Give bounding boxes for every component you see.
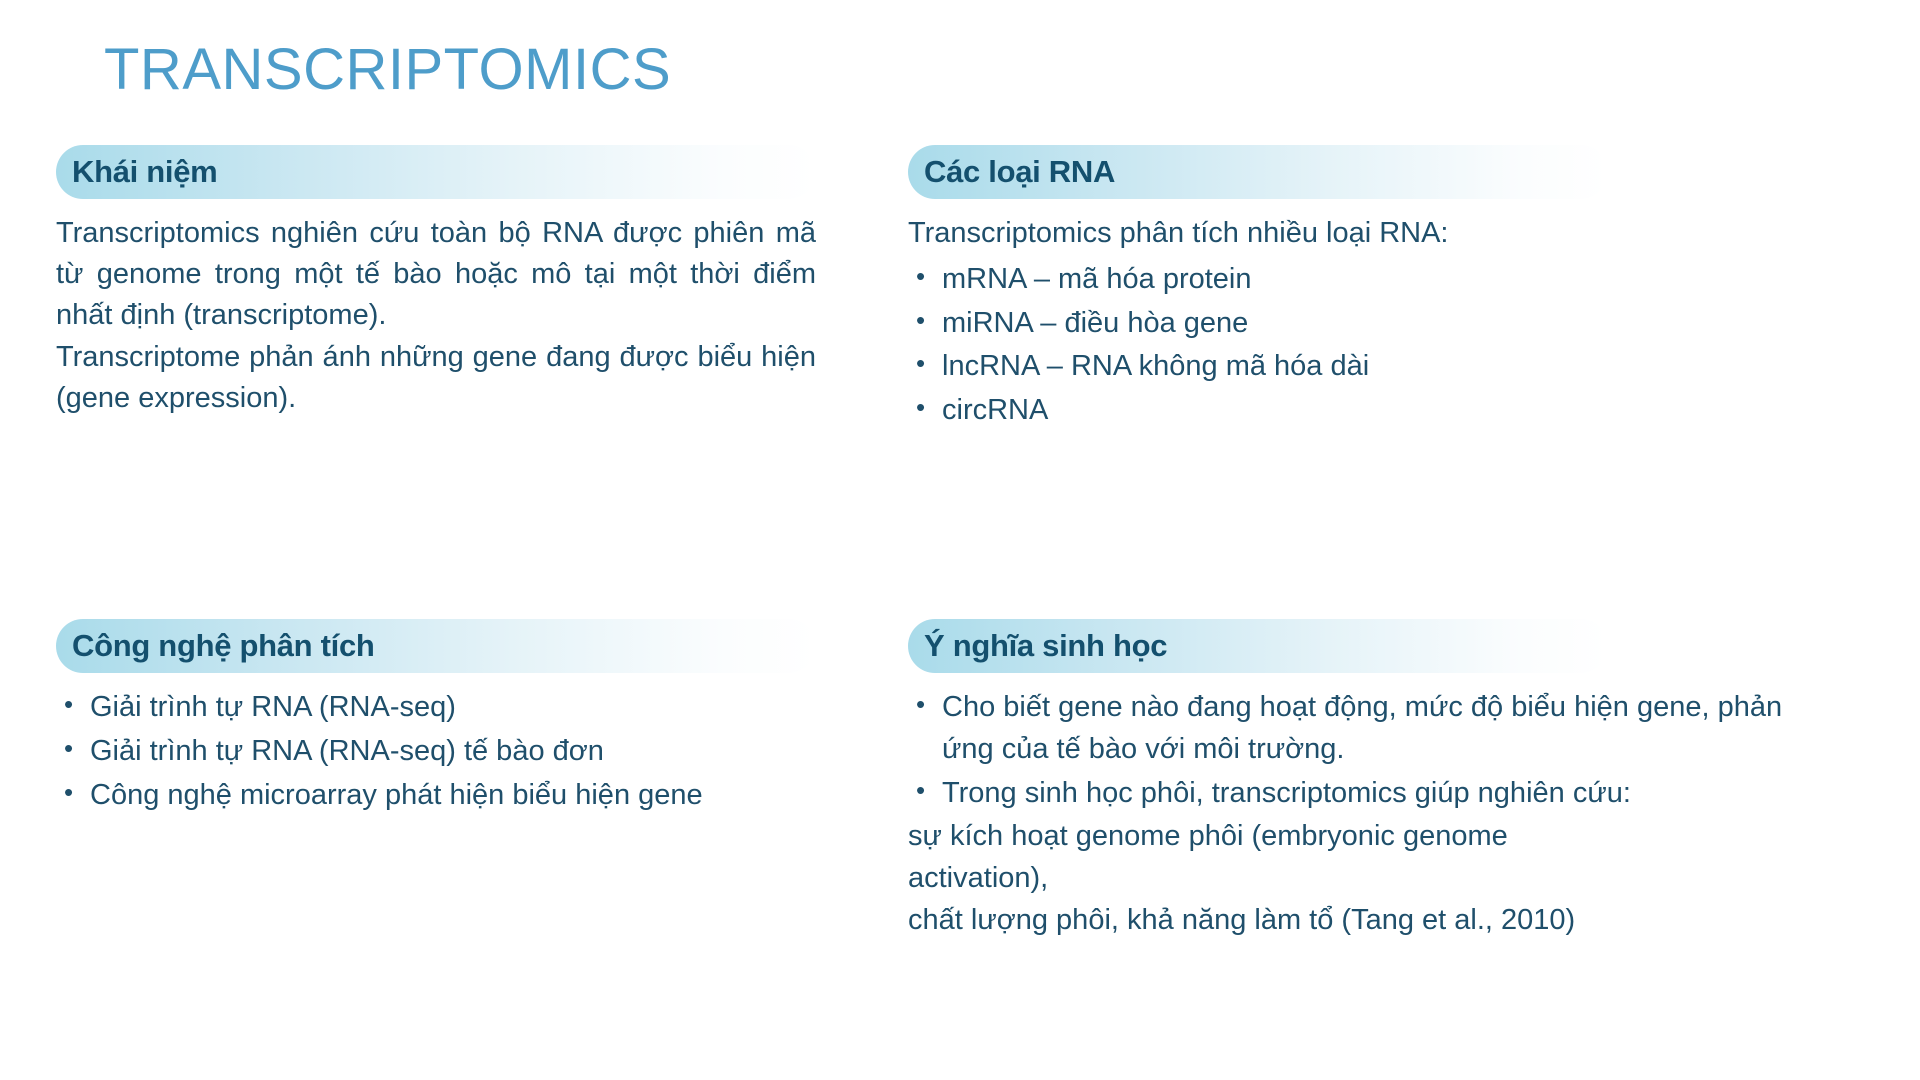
section-header-concept: Khái niệm [56,145,816,199]
technology-list: Giải trình tự RNA (RNA-seq) Giải trình t… [56,687,816,816]
list-item: lncRNA – RNA không mã hóa dài [908,346,1788,388]
trailing-line: chất lượng phôi, khả năng làm tổ (Tang e… [908,900,1788,942]
section-technology: Công nghệ phân tích Giải trình tự RNA (R… [56,619,816,818]
section-header-rna-types: Các loại RNA [908,145,1608,199]
list-item: mRNA – mã hóa protein [908,259,1788,301]
concept-body: Transcriptomics nghiên cứu toàn bộ RNA đ… [56,213,816,419]
list-item: Cho biết gene nào đang hoạt động, mức độ… [908,687,1788,771]
biological-meaning-trailing-lines: sự kích hoạt genome phôi (embryonic geno… [908,816,1788,941]
list-item: Giải trình tự RNA (RNA-seq) [56,687,816,729]
list-item: Công nghệ microarray phát hiện biểu hiện… [56,775,816,817]
section-header-technology: Công nghệ phân tích [56,619,816,673]
list-item: miRNA – điều hòa gene [908,303,1788,345]
list-item: Giải trình tự RNA (RNA-seq) tế bào đơn [56,731,816,773]
section-header-biological-meaning: Ý nghĩa sinh học [908,619,1608,673]
section-header-label: Khái niệm [72,154,217,190]
slide-canvas: TRANSCRIPTOMICS Khái niệm Transcriptomic… [0,0,1920,1080]
concept-paragraph-2: Transcriptome phản ánh những gene đang đ… [56,337,816,419]
section-rna-types: Các loại RNA Transcriptomics phân tích n… [908,145,1788,434]
biological-meaning-body: Cho biết gene nào đang hoạt động, mức độ… [908,687,1788,942]
section-header-label: Công nghệ phân tích [72,628,375,664]
trailing-line: sự kích hoạt genome phôi (embryonic geno… [908,816,1788,858]
rna-types-list: mRNA – mã hóa protein miRNA – điều hòa g… [908,259,1788,432]
rna-types-body: Transcriptomics phân tích nhiều loại RNA… [908,213,1788,432]
list-item: Trong sinh học phôi, transcriptomics giú… [908,773,1788,815]
concept-paragraph-1: Transcriptomics nghiên cứu toàn bộ RNA đ… [56,213,816,337]
page-title: TRANSCRIPTOMICS [104,36,671,103]
section-concept: Khái niệm Transcriptomics nghiên cứu toà… [56,145,816,419]
technology-body: Giải trình tự RNA (RNA-seq) Giải trình t… [56,687,816,816]
list-item: circRNA [908,390,1788,432]
section-header-label: Ý nghĩa sinh học [924,628,1167,664]
biological-meaning-list: Cho biết gene nào đang hoạt động, mức độ… [908,687,1788,814]
trailing-line: activation), [908,858,1788,900]
rna-types-intro: Transcriptomics phân tích nhiều loại RNA… [908,213,1788,255]
section-header-label: Các loại RNA [924,154,1115,190]
section-biological-meaning: Ý nghĩa sinh học Cho biết gene nào đang … [908,619,1788,942]
